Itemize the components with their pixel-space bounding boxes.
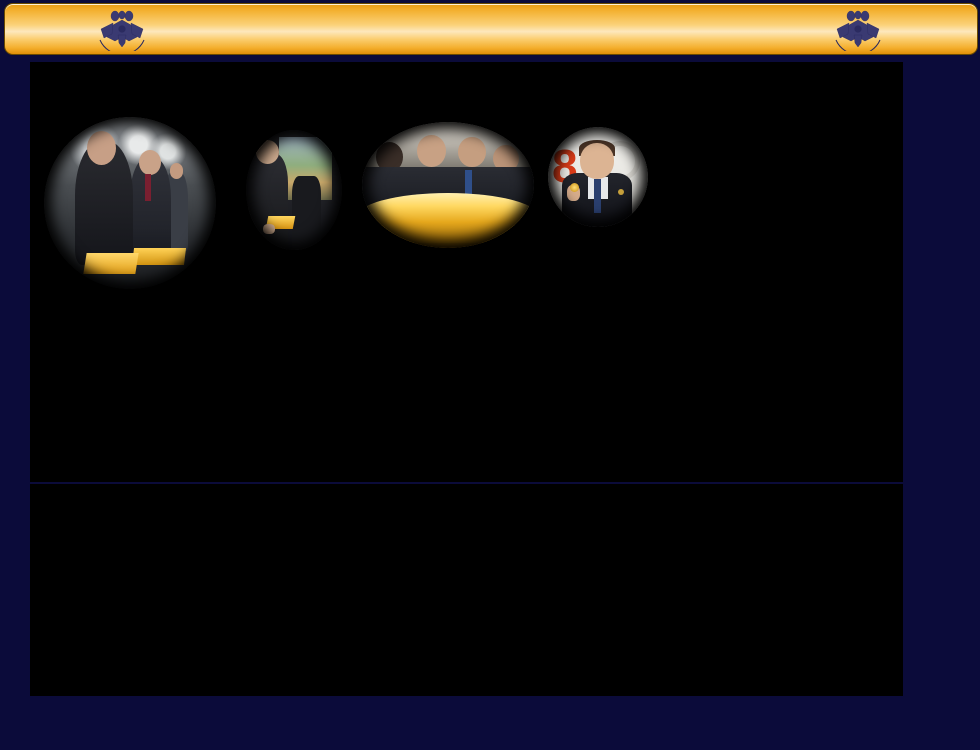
photo-putin-gold-bars xyxy=(44,117,216,289)
bank-of-russia-emblem-icon xyxy=(91,7,153,51)
chart-header-banner xyxy=(4,3,978,55)
photo-putin-holding-bar xyxy=(246,130,342,250)
bank-of-russia-emblem-icon xyxy=(827,7,889,51)
photo-medvedev-coin: 8 xyxy=(548,127,648,227)
monthly-change-plot-area xyxy=(30,484,903,696)
chart-page: 8 xyxy=(0,0,980,750)
photo-gold-bar-closeup xyxy=(362,122,534,248)
